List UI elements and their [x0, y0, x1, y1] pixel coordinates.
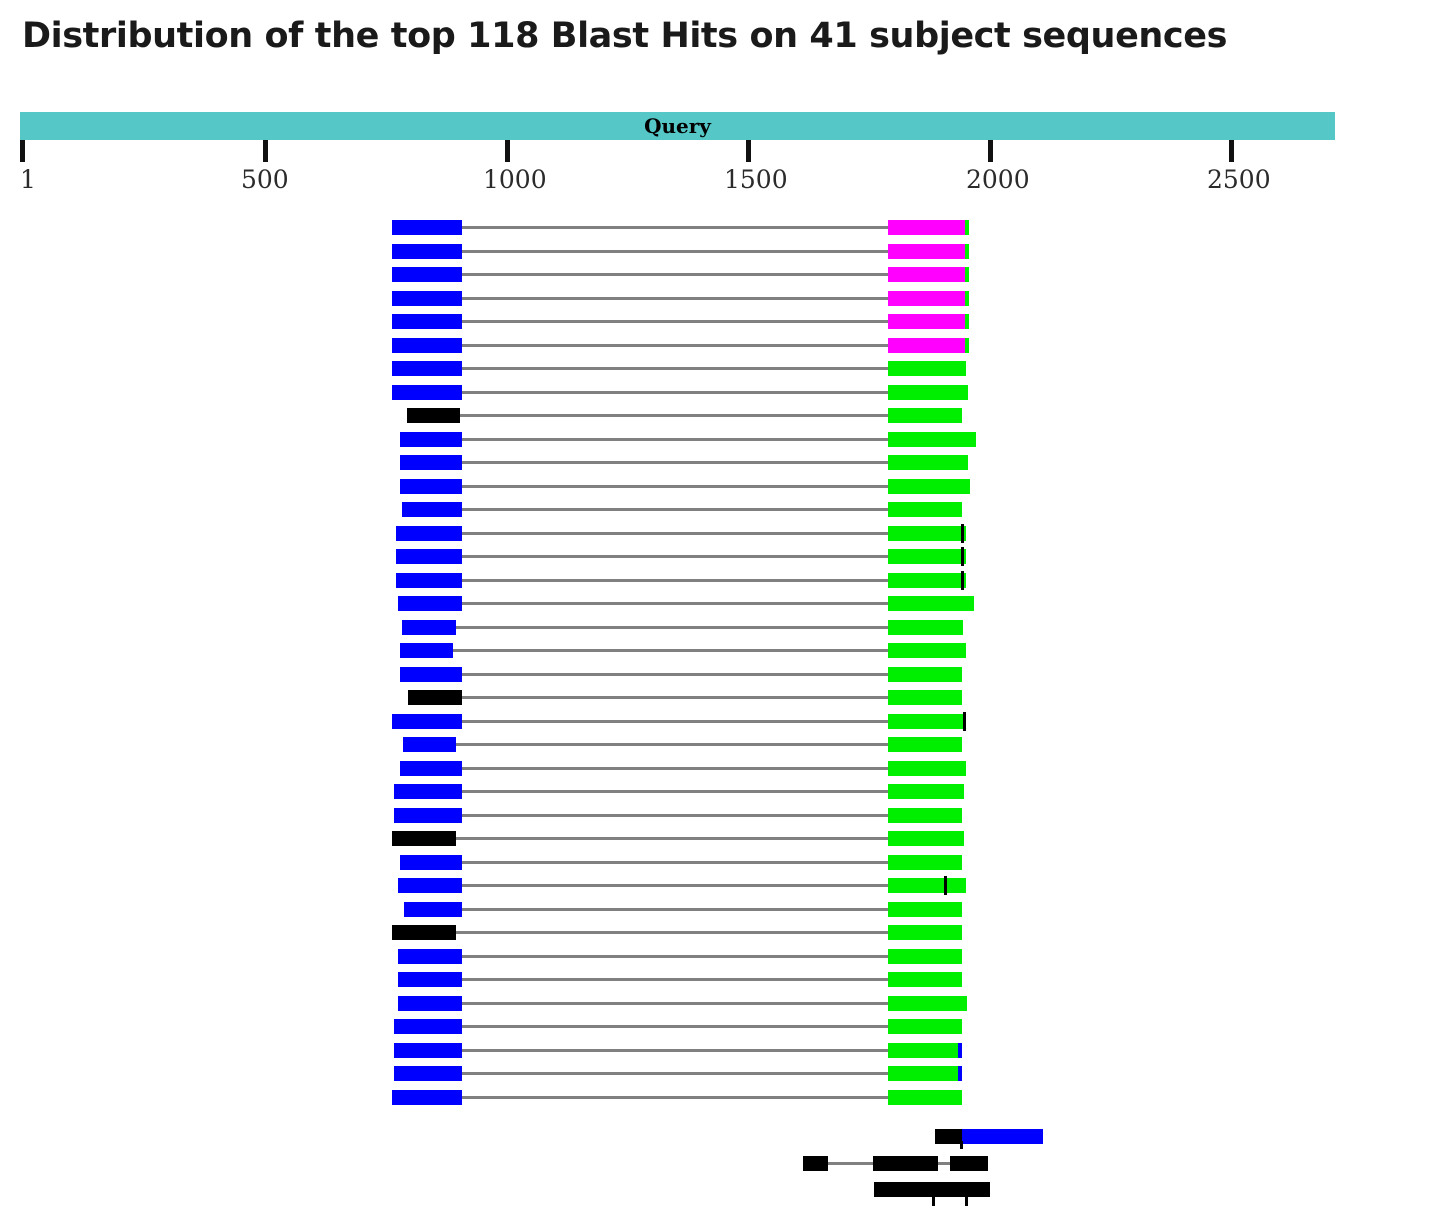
- hit-row[interactable]: [0, 573, 1451, 591]
- hit-segment-green[interactable]: [888, 690, 962, 705]
- hit-segment-green[interactable]: [888, 596, 974, 611]
- hit-connector-line: [938, 1162, 950, 1165]
- hit-row[interactable]: [0, 267, 1451, 285]
- hit-row[interactable]: [0, 479, 1451, 497]
- hit-segment-green[interactable]: [888, 385, 968, 400]
- hit-segment-blue[interactable]: [394, 808, 462, 823]
- hit-segment-black[interactable]: [950, 1156, 988, 1171]
- hit-segment-blue[interactable]: [392, 244, 462, 259]
- hit-segment-green[interactable]: [965, 291, 969, 306]
- hit-segment-green[interactable]: [888, 949, 962, 964]
- hit-segment-green[interactable]: [888, 455, 968, 470]
- hit-segment-blue[interactable]: [392, 1090, 462, 1105]
- hit-connector-line: [462, 1002, 888, 1005]
- hit-connector-line: [462, 955, 888, 958]
- hit-connector-line: [462, 226, 888, 229]
- hit-segment-magenta[interactable]: [888, 291, 965, 306]
- hit-boundary-marker: [932, 1196, 935, 1206]
- hit-segment-blue[interactable]: [398, 972, 462, 987]
- hit-connector-line: [456, 837, 888, 840]
- hit-segment-green[interactable]: [888, 573, 966, 588]
- hit-segment-blue[interactable]: [392, 291, 462, 306]
- hit-segment-blue[interactable]: [400, 643, 453, 658]
- hit-segment-black[interactable]: [803, 1156, 828, 1171]
- hit-connector-line: [462, 673, 888, 676]
- hit-segment-blue[interactable]: [403, 737, 456, 752]
- hit-segment-blue[interactable]: [400, 455, 462, 470]
- hit-segment-blue[interactable]: [398, 878, 462, 893]
- hit-segment-blue[interactable]: [394, 784, 462, 799]
- hit-row[interactable]: [0, 1066, 1451, 1084]
- hit-segment-blue[interactable]: [962, 1129, 1043, 1144]
- hit-segment-green[interactable]: [888, 925, 962, 940]
- hit-segment-blue[interactable]: [396, 549, 462, 564]
- hit-segment-black[interactable]: [874, 1182, 990, 1197]
- hit-connector-line: [462, 1025, 888, 1028]
- hit-segment-green[interactable]: [888, 1043, 962, 1058]
- hit-segment-blue[interactable]: [400, 667, 462, 682]
- hit-segment-green[interactable]: [888, 1090, 962, 1105]
- hit-segment-blue[interactable]: [396, 573, 462, 588]
- hit-row[interactable]: [0, 620, 1451, 638]
- hit-segment-green[interactable]: [888, 620, 963, 635]
- hit-row[interactable]: [0, 878, 1451, 896]
- hit-segment-green[interactable]: [888, 855, 962, 870]
- hit-segment-green[interactable]: [965, 267, 969, 282]
- hit-row[interactable]: [0, 972, 1451, 990]
- hit-segment-green[interactable]: [888, 737, 962, 752]
- hit-row[interactable]: [0, 902, 1451, 920]
- hit-segment-green[interactable]: [965, 338, 969, 353]
- hit-connector-line: [462, 696, 888, 699]
- hit-segment-green[interactable]: [888, 972, 962, 987]
- hit-row[interactable]: [0, 432, 1451, 450]
- hit-connector-line: [462, 344, 888, 347]
- hit-connector-line: [462, 767, 888, 770]
- hit-boundary-marker: [961, 547, 964, 566]
- hit-connector-line: [462, 273, 888, 276]
- hit-segment-green[interactable]: [888, 831, 964, 846]
- hit-connector-line: [453, 649, 888, 652]
- hit-segment-black[interactable]: [392, 831, 456, 846]
- hit-segment-blue[interactable]: [396, 526, 462, 541]
- hit-row[interactable]: [0, 502, 1451, 520]
- hit-connector-line: [462, 508, 888, 511]
- hit-segment-green[interactable]: [888, 761, 966, 776]
- hit-segment-green[interactable]: [888, 643, 966, 658]
- hit-segment-blue[interactable]: [400, 855, 462, 870]
- hit-segment-magenta[interactable]: [888, 220, 965, 235]
- hit-row[interactable]: [0, 808, 1451, 826]
- hit-rows-container: [0, 0, 1451, 1213]
- hit-segment-blue[interactable]: [402, 620, 456, 635]
- hit-segment-green[interactable]: [965, 244, 969, 259]
- hit-boundary-marker: [960, 1141, 963, 1149]
- hit-segment-black[interactable]: [392, 925, 456, 940]
- hit-connector-line: [462, 908, 888, 911]
- hit-connector-line: [462, 532, 888, 535]
- hit-connector-line: [462, 320, 888, 323]
- hit-row[interactable]: [0, 338, 1451, 356]
- hit-segment-magenta[interactable]: [888, 244, 965, 259]
- hit-segment-blue[interactable]: [392, 338, 462, 353]
- hit-connector-line: [462, 861, 888, 864]
- hit-connector-line: [462, 579, 888, 582]
- hit-segment-blue[interactable]: [392, 385, 462, 400]
- hit-segment-green[interactable]: [888, 1066, 962, 1081]
- hit-row[interactable]: [0, 996, 1451, 1014]
- hit-row[interactable]: [0, 831, 1451, 849]
- hit-connector-line: [462, 790, 888, 793]
- hit-segment-blue[interactable]: [392, 267, 462, 282]
- hit-row[interactable]: [0, 761, 1451, 779]
- hit-row[interactable]: [0, 667, 1451, 685]
- hit-row[interactable]: [0, 643, 1451, 661]
- hit-segment-green[interactable]: [888, 878, 966, 893]
- hit-segment-green[interactable]: [888, 1019, 962, 1034]
- hit-segment-green[interactable]: [888, 902, 962, 917]
- hit-row[interactable]: [0, 690, 1451, 708]
- hit-row[interactable]: [0, 314, 1451, 332]
- hit-connector-line: [462, 297, 888, 300]
- hit-segment-green[interactable]: [888, 432, 976, 447]
- hit-boundary-marker: [944, 876, 947, 895]
- hit-row[interactable]: [0, 361, 1451, 379]
- hit-segment-blue[interactable]: [404, 902, 462, 917]
- hit-connector-line: [462, 1049, 888, 1052]
- hit-row[interactable]: [0, 1090, 1451, 1108]
- hit-segment-blue[interactable]: [392, 714, 462, 729]
- hit-row[interactable]: [0, 244, 1451, 262]
- hit-connector-line: [462, 1072, 888, 1075]
- hit-row[interactable]: [0, 1043, 1451, 1061]
- hit-segment-green[interactable]: [888, 502, 962, 517]
- hit-connector-line: [462, 367, 888, 370]
- hit-connector-line: [462, 602, 888, 605]
- hit-segment-blue[interactable]: [398, 996, 462, 1011]
- hit-connector-line: [462, 555, 888, 558]
- hit-segment-green[interactable]: [888, 479, 970, 494]
- hit-connector-line: [462, 884, 888, 887]
- hit-segment-green[interactable]: [888, 667, 962, 682]
- hit-row[interactable]: [0, 925, 1451, 943]
- hit-segment-magenta[interactable]: [888, 338, 965, 353]
- hit-row[interactable]: [0, 596, 1451, 614]
- hit-connector-line: [462, 814, 888, 817]
- hit-row[interactable]: [0, 549, 1451, 567]
- hit-boundary-marker: [965, 1196, 968, 1206]
- hit-connector-line: [462, 250, 888, 253]
- hit-segment-green[interactable]: [888, 808, 962, 823]
- hit-segment-magenta[interactable]: [888, 314, 965, 329]
- hit-boundary-marker: [961, 571, 964, 590]
- hit-segment-green[interactable]: [888, 996, 967, 1011]
- hit-segment-blue[interactable]: [394, 1043, 462, 1058]
- hit-segment-blue[interactable]: [400, 761, 462, 776]
- hit-row[interactable]: [0, 949, 1451, 967]
- hit-segment-blue[interactable]: [394, 1019, 462, 1034]
- hit-segment-blue[interactable]: [958, 1066, 962, 1081]
- hit-segment-blue[interactable]: [398, 596, 462, 611]
- hit-connector-line: [462, 461, 888, 464]
- hit-row[interactable]: [0, 714, 1451, 732]
- hit-segment-green[interactable]: [888, 549, 966, 564]
- hit-segment-blue[interactable]: [958, 1043, 962, 1058]
- hit-connector-line: [460, 414, 888, 417]
- hit-segment-blue[interactable]: [392, 361, 462, 376]
- hit-segment-black[interactable]: [408, 690, 462, 705]
- hit-row[interactable]: [0, 220, 1451, 238]
- hit-segment-black[interactable]: [935, 1129, 962, 1144]
- hit-row[interactable]: [0, 385, 1451, 403]
- hit-row[interactable]: [0, 408, 1451, 426]
- hit-segment-blue[interactable]: [402, 502, 462, 517]
- hit-connector-line: [462, 391, 888, 394]
- hit-segment-blue[interactable]: [398, 949, 462, 964]
- hit-row[interactable]: [0, 291, 1451, 309]
- hit-segment-magenta[interactable]: [888, 267, 965, 282]
- hit-segment-green[interactable]: [965, 314, 969, 329]
- hit-row[interactable]: [0, 526, 1451, 544]
- hit-segment-blue[interactable]: [392, 220, 462, 235]
- hit-connector-line: [462, 485, 888, 488]
- hit-segment-green[interactable]: [888, 784, 964, 799]
- hit-segment-green[interactable]: [888, 408, 962, 423]
- hit-connector-line: [462, 720, 888, 723]
- hit-row[interactable]: [0, 1129, 1451, 1147]
- hit-boundary-marker: [963, 712, 966, 731]
- hit-segment-black[interactable]: [407, 408, 460, 423]
- hit-connector-line: [828, 1162, 873, 1165]
- hit-row[interactable]: [0, 784, 1451, 802]
- hit-connector-line: [462, 1096, 888, 1099]
- hit-segment-green[interactable]: [965, 220, 969, 235]
- hit-connector-line: [462, 978, 888, 981]
- hit-segment-green[interactable]: [888, 526, 966, 541]
- hit-segment-blue[interactable]: [400, 479, 462, 494]
- hit-connector-line: [456, 743, 888, 746]
- hit-row[interactable]: [0, 855, 1451, 873]
- hit-connector-line: [456, 626, 888, 629]
- hit-segment-blue[interactable]: [394, 1066, 462, 1081]
- hit-row[interactable]: [0, 1182, 1451, 1200]
- hit-row[interactable]: [0, 1156, 1451, 1174]
- hit-row[interactable]: [0, 1019, 1451, 1037]
- hit-segment-green[interactable]: [888, 714, 963, 729]
- hit-boundary-marker: [961, 524, 964, 543]
- hit-segment-blue[interactable]: [400, 432, 462, 447]
- hit-segment-blue[interactable]: [392, 314, 462, 329]
- hit-row[interactable]: [0, 737, 1451, 755]
- hit-segment-black[interactable]: [873, 1156, 938, 1171]
- hit-segment-green[interactable]: [888, 361, 966, 376]
- hit-connector-line: [456, 931, 888, 934]
- hit-row[interactable]: [0, 455, 1451, 473]
- hit-connector-line: [462, 438, 888, 441]
